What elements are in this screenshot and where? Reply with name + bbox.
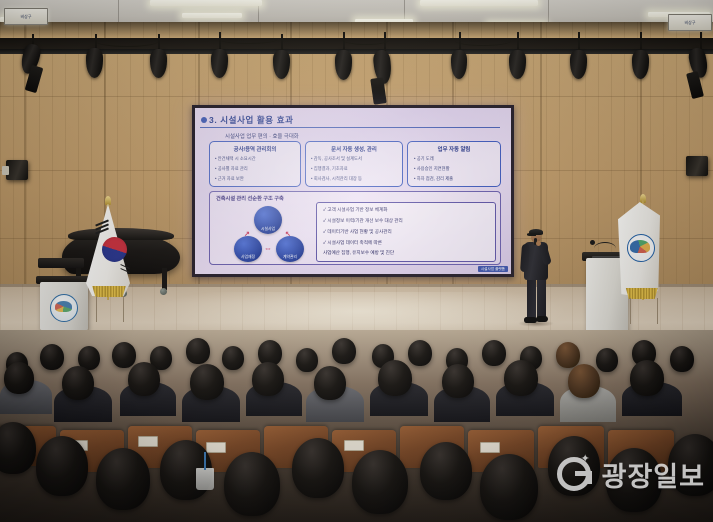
organization-emblem-inner-icon xyxy=(55,301,72,312)
projection-screen: 3. 시설사업 활용 효과 시설사업 업무 편의 · 효율 극대화 공사/용역 … xyxy=(192,105,514,277)
slide-box-2-item: • 감독, 공사조서 및 설계도서 xyxy=(311,156,362,162)
checklist-item: ✓ 데이터기반 사업 현황 및 공사관리 xyxy=(323,229,392,235)
cycle-node-contract: 계약관리 xyxy=(276,236,304,262)
slide-title-underline xyxy=(200,127,500,128)
flag-stand xyxy=(630,298,658,324)
checklist-item: ✓ 시설사업 데이터 축적에 따른 xyxy=(323,240,382,246)
cycle-arrow-horizontal: ⇔ xyxy=(264,244,272,253)
wall-speaker-right xyxy=(686,156,708,176)
watermark-text: 광장일보 xyxy=(602,455,705,494)
slide-subtitle: 시설사업 업무 편의 · 효율 극대화 xyxy=(225,132,299,140)
ceiling-light xyxy=(182,13,242,18)
lighting-truss xyxy=(0,49,713,54)
exit-sign-label-right: 비상구 xyxy=(684,20,695,26)
photograph-auditorium-presentation: 비상구 비상구 xyxy=(0,0,713,522)
slide-lower-panel: 건축시설 관리 선순환 구조 구축 시설사업 사업재정 계약관리 ↗ ↖ ⇔ ✓… xyxy=(209,191,501,265)
slide-box-1-item: • 근거 자료 보완 xyxy=(215,176,244,182)
slide-box-3-item: • 하자 점검, 감리 제출 xyxy=(414,176,453,182)
cycle-arrow-up-right: ↖ xyxy=(285,230,291,238)
slide-box-2-heading: 문서 자동 생성, 관리 xyxy=(306,145,402,153)
ceiling-light xyxy=(150,0,262,6)
exit-sign-label-left: 비상구 xyxy=(20,14,31,20)
slide-box-3: 업무 자동 알림 • 공기 도래 • 사용승인 지연현황 • 하자 점검, 감리… xyxy=(407,141,501,187)
slide-box-1-heading: 공사/용역 관리회의 xyxy=(210,145,300,153)
cycle-node-contract-label: 계약관리 xyxy=(276,255,304,260)
slide-lower-panel-title: 건축시설 관리 선순환 구조 구축 xyxy=(216,195,284,202)
gwangjang-logo-icon: ✦ xyxy=(557,454,597,494)
checklist-item: ✓ 시설정보 이력/기관 개선 보수 대상 관리 xyxy=(323,218,403,224)
slide-box-3-item: • 사용승인 지연현황 xyxy=(414,166,450,172)
lamp-cable xyxy=(218,34,278,44)
lamp-cable xyxy=(455,36,511,46)
slide-title-bullet xyxy=(201,117,207,123)
slide-box-1-item: • 공사별 자료 관리 xyxy=(215,166,248,172)
checklist-item: 사업예산 집행, 유지보수 예방 및 진단 xyxy=(323,250,394,256)
piano-bench xyxy=(38,258,84,268)
cycle-arrow-up-left: ↗ xyxy=(244,230,250,238)
slide-box-1-item: • 안건채택 시 소요시간 xyxy=(215,156,256,162)
emergency-exit-sign-right: 비상구 xyxy=(668,14,712,31)
slide-checklist-panel: ✓ 고객 시설사업 기반 정보 체계화 ✓ 시설정보 이력/기관 개선 보수 대… xyxy=(316,202,496,262)
cycle-node-budget: 사업재정 xyxy=(234,236,262,262)
lamp-cable xyxy=(96,36,158,47)
speaker-bracket-left xyxy=(2,166,9,175)
organization-logo-inner-icon xyxy=(630,240,650,253)
watermark: ✦ 광장일보 xyxy=(557,454,705,494)
slide-box-3-heading: 업무 자동 알림 xyxy=(408,145,500,153)
cycle-node-budget-label: 사업재정 xyxy=(234,255,262,260)
checklist-item: ✓ 고객 시설사업 기반 정보 체계화 xyxy=(323,207,387,213)
cycle-node-facility-label: 시설사업 xyxy=(254,227,282,232)
ceiling-light xyxy=(420,0,538,6)
emergency-exit-sign-left: 비상구 xyxy=(4,8,48,25)
wall-speaker-left xyxy=(6,160,28,180)
cycle-node-facility: 시설사업 xyxy=(254,206,282,234)
slide-title: 3. 시설사업 활용 효과 xyxy=(209,114,294,126)
slide-box-2: 문서 자동 생성, 관리 • 감독, 공사조서 및 설계도서 • 집행결과, 기… xyxy=(305,141,403,187)
lamp-cable xyxy=(342,34,390,45)
slide-box-1: 공사/용역 관리회의 • 안건채택 시 소요시간 • 공사별 자료 관리 • 근… xyxy=(209,141,301,187)
projected-slide: 3. 시설사업 활용 효과 시설사업 업무 편의 · 효율 극대화 공사/용역 … xyxy=(195,108,511,274)
flag-stand xyxy=(96,296,124,322)
slide-box-2-item: • 회사검사, 시적관리 대장 등 xyxy=(311,176,362,182)
slide-footer-badge: 시설사업 플랫폼 xyxy=(478,266,508,272)
slide-box-2-item: • 집행결과, 기초자료 xyxy=(311,166,348,172)
slide-box-3-item: • 공기 도래 xyxy=(414,156,434,162)
